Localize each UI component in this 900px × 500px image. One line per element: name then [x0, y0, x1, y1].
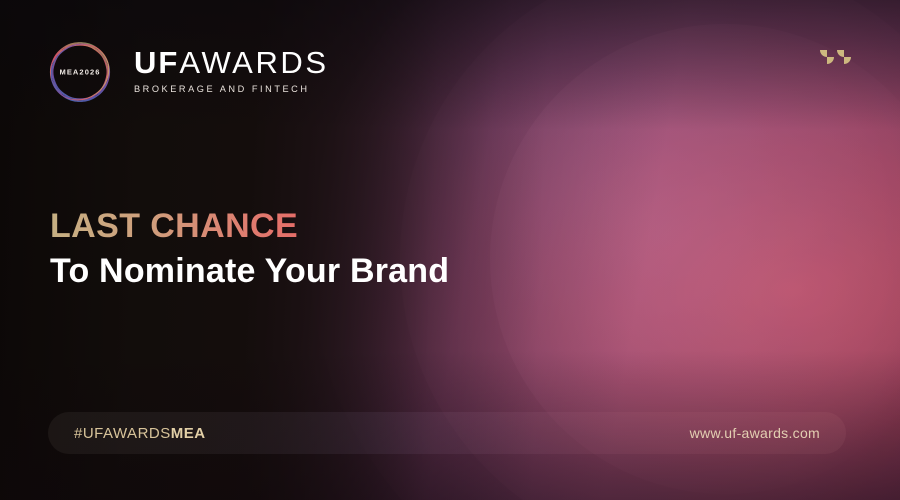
logo-year-badge: MEA2026 — [40, 68, 120, 77]
logo-title-awards: AWARDS — [179, 45, 328, 80]
ufm-corner-logo-icon — [816, 44, 856, 72]
brand-logo: MEA2026 UFAWARDS BROKERAGE AND FINTECH — [40, 32, 329, 112]
footer-bar: #UFAWARDSMEA www.uf-awards.com — [48, 412, 846, 454]
website-link[interactable]: www.uf-awards.com — [690, 425, 820, 441]
circles-logo-icon: MEA2026 — [40, 32, 120, 112]
logo-subtitle: BROKERAGE AND FINTECH — [134, 84, 329, 94]
promo-banner: MEA2026 UFAWARDS BROKERAGE AND FINTECH L… — [0, 0, 900, 500]
logo-title-uf: UF — [134, 45, 179, 80]
logo-wordmark: UFAWARDS BROKERAGE AND FINTECH — [134, 47, 329, 98]
headline-kicker: LAST CHANCE — [50, 207, 449, 246]
headline-main: To Nominate Your Brand — [50, 252, 449, 291]
hashtag-bold: MEA — [171, 425, 206, 442]
logo-title: UFAWARDS — [134, 47, 329, 78]
hashtag-label: #UFAWARDSMEA — [74, 425, 206, 442]
headline-block: LAST CHANCE To Nominate Your Brand — [50, 207, 449, 292]
hashtag-regular: #UFAWARDS — [74, 425, 171, 442]
